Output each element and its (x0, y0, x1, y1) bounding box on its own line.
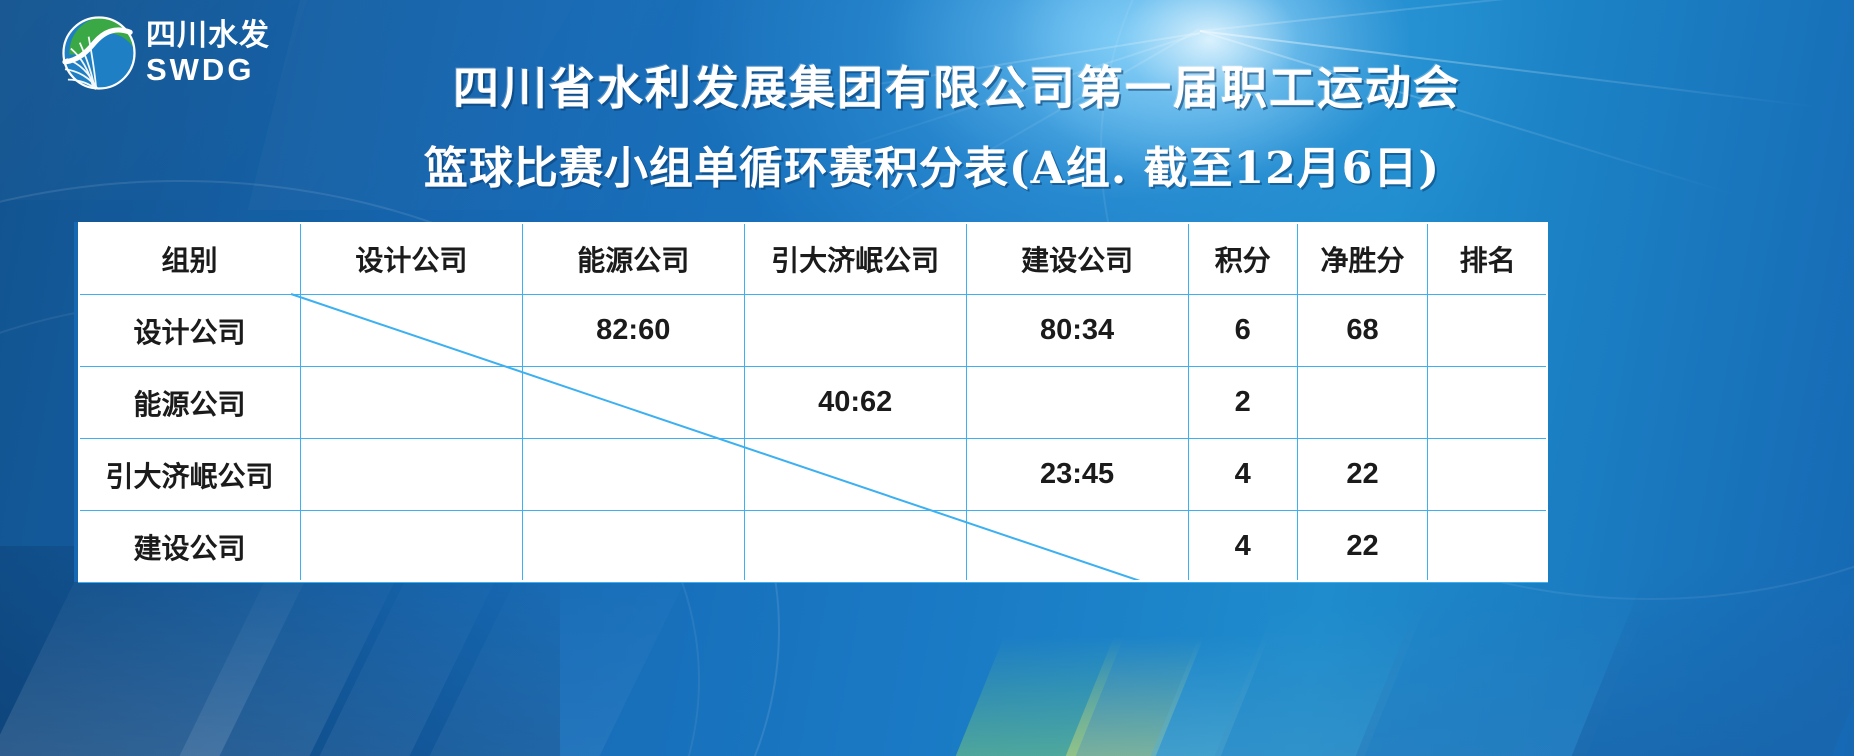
match-cell (966, 511, 1188, 583)
row-rank (1428, 367, 1548, 439)
match-cell (744, 295, 966, 367)
row-points: 6 (1188, 295, 1297, 367)
row-rank (1428, 295, 1548, 367)
table-header-rank: 排名 (1428, 223, 1548, 295)
row-net-score: 22 (1297, 439, 1427, 511)
match-cell (522, 439, 744, 511)
row-net-score: 68 (1297, 295, 1427, 367)
table-row: 建设公司 4 22 (79, 511, 1548, 583)
brand-name-cn: 四川水发 (146, 21, 270, 51)
row-points: 4 (1188, 511, 1297, 583)
table-header-energy: 能源公司 (522, 223, 744, 295)
standings-table: 组别 设计公司 能源公司 引大济岷公司 建设公司 积分 净胜分 排名 设计公司 … (78, 222, 1548, 583)
match-cell: 40:62 (744, 367, 966, 439)
match-cell (966, 367, 1188, 439)
table-header-net-score: 净胜分 (1297, 223, 1427, 295)
table-row: 设计公司 82:60 80:34 6 68 (79, 295, 1548, 367)
row-rank (1428, 439, 1548, 511)
row-points: 4 (1188, 439, 1297, 511)
match-cell (744, 511, 966, 583)
match-cell (522, 511, 744, 583)
page-title: 四川省水利发展集团有限公司第一届职工运动会 (0, 52, 1854, 118)
match-cell (522, 367, 744, 439)
match-cell (300, 511, 522, 583)
row-points: 2 (1188, 367, 1297, 439)
row-team-name: 设计公司 (79, 295, 301, 367)
table-header-points: 积分 (1188, 223, 1297, 295)
match-cell: 80:34 (966, 295, 1188, 367)
row-net-score (1297, 367, 1427, 439)
match-cell (300, 439, 522, 511)
match-cell (300, 367, 522, 439)
table-row: 能源公司 40:62 2 (79, 367, 1548, 439)
row-net-score: 22 (1297, 511, 1427, 583)
table-header-construction: 建设公司 (966, 223, 1188, 295)
row-team-name: 建设公司 (79, 511, 301, 583)
page-subtitle: 篮球比赛小组单循环赛积分表(A组. 截至12月6日) (0, 132, 1854, 196)
row-rank (1428, 511, 1548, 583)
match-cell (744, 439, 966, 511)
table-header-yindajimin: 引大济岷公司 (744, 223, 966, 295)
table-header-group: 组别 (79, 223, 301, 295)
match-cell: 82:60 (522, 295, 744, 367)
match-cell (300, 295, 522, 367)
standings-table-wrapper: 组别 设计公司 能源公司 引大济岷公司 建设公司 积分 净胜分 排名 设计公司 … (78, 222, 1548, 582)
table-header-design: 设计公司 (300, 223, 522, 295)
poster-canvas: 四川水发 SWDG 四川省水利发展集团有限公司第一届职工运动会 篮球比赛小组单循… (0, 0, 1854, 756)
row-team-name: 引大济岷公司 (79, 439, 301, 511)
table-row: 引大济岷公司 23:45 4 22 (79, 439, 1548, 511)
match-cell: 23:45 (966, 439, 1188, 511)
row-team-name: 能源公司 (79, 367, 301, 439)
table-header-row: 组别 设计公司 能源公司 引大济岷公司 建设公司 积分 净胜分 排名 (79, 223, 1548, 295)
